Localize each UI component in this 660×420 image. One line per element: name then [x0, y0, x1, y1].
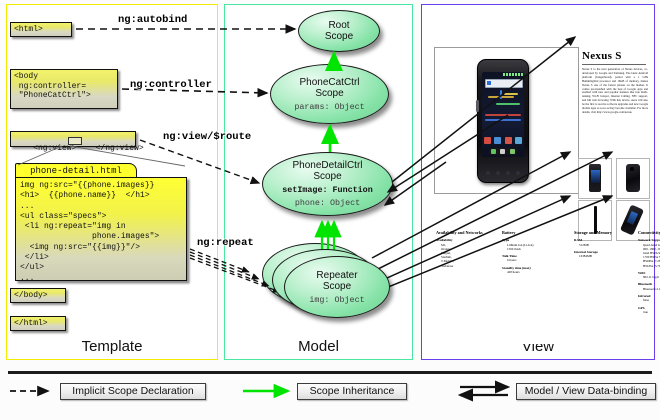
app-icon-2: [494, 137, 501, 144]
phone-button-home: [516, 171, 520, 175]
thumbnail-back[interactable]: [616, 158, 650, 199]
article-title: Nexus S: [582, 50, 622, 62]
scope-phonecatctrl: PhoneCatCtrl Scope params: Object: [270, 64, 389, 124]
article-title-rule: [582, 64, 646, 65]
article-body: Nexus S is the next generation of Nexus …: [582, 68, 648, 142]
spec-val-battery-talk-0: 6 hours: [502, 258, 558, 262]
phone-button-menu: [496, 171, 500, 175]
spec-column-connectivity: Connectivity Network Support Quad-band G…: [638, 230, 660, 314]
scope-phonedetailctrl-prop-phone: phone: Object: [295, 198, 360, 208]
app-icon-4: [515, 137, 522, 144]
spec-column-storage: Storage and Memory RAM 512MB Internal St…: [574, 230, 632, 258]
phone-side-button: [476, 100, 479, 112]
ng-view-text: <ng:view> </ng:view>: [33, 144, 143, 153]
code-html-close-tag: </html>: [10, 316, 66, 331]
spec-val-battery-type-1: 1500 mAh: [502, 247, 558, 251]
phone-soft-buttons: [483, 169, 523, 177]
phone-earpiece: [494, 65, 512, 67]
scope-root: Root Scope: [298, 10, 380, 52]
legend-label-inheritance: Scope Inheritance: [297, 383, 407, 400]
legend-divider: [8, 371, 652, 374]
phone-dock: [489, 148, 517, 155]
phone-statusbar: [503, 73, 523, 76]
thumbnail-front-image: [589, 164, 601, 192]
spec-val-infrared-0: false: [638, 298, 660, 302]
label-ng-view-route: ng:view/$route: [163, 131, 251, 143]
view-rendered-page: Nexus S Nexus S is the next generation o…: [428, 14, 648, 344]
scope-phonedetailctrl-title-line1: PhoneDetailCtrl: [292, 160, 362, 171]
spec-column-availability: Availability and Networks Availability M…: [436, 230, 484, 268]
scope-phonedetailctrl: PhoneDetailCtrl Scope setImage: Function…: [262, 152, 393, 216]
spec-heading-availability: Availability and Networks: [436, 230, 484, 235]
spec-val-network-5: HSUPA (5.76Mbps): [638, 264, 660, 268]
spec-val-storage-internal-0: 16384MB: [574, 254, 632, 258]
callout-code: img ng:src="{{phone.images}} <h1> {{phon…: [15, 177, 187, 281]
spec-column-battery: Battery Type Lithium Ion (Li-Ion) 1500 m…: [502, 230, 558, 274]
thumbnail-back-image: [626, 164, 640, 192]
legend-label-databinding: Model / View Data-binding: [516, 383, 656, 400]
thumbnail-front[interactable]: [578, 158, 612, 199]
spec-val-bluetooth-0: Bluetooth 2.1: [638, 287, 660, 291]
diagram-canvas: Template Model View <html> <body ng:cont…: [0, 0, 660, 420]
dock-icon-browser: [510, 149, 515, 154]
phone-hero-frame: [434, 47, 579, 194]
dock-icon-phone: [491, 149, 496, 154]
scope-repeater-title-line1: Repeater: [316, 270, 357, 281]
spec-table: Availability and Networks Availability M…: [434, 230, 648, 330]
ng-view-slot-icon: [68, 137, 82, 145]
phone-button-back: [486, 171, 490, 175]
scope-root-title-line2: Scope: [325, 31, 353, 42]
app-icon-3: [505, 137, 512, 144]
scope-root-title-line1: Root: [328, 20, 349, 31]
scope-phonecatctrl-title-line2: Scope: [315, 88, 343, 99]
phone-search-widget: [485, 79, 523, 88]
label-ng-repeat: ng:repeat: [197, 237, 254, 249]
dock-icon-apps: [500, 149, 505, 154]
spec-heading-battery: Battery: [502, 230, 558, 235]
google-icon: [487, 81, 491, 85]
spec-val-storage-ram-0: 512MB: [574, 243, 632, 247]
template-callout-phone-detail: phone-detail.html img ng:src="{{phone.im…: [15, 163, 187, 281]
spec-sub-network: Network Support: [638, 238, 660, 242]
code-ng-view-tag: <ng:view> </ng:view>: [10, 131, 136, 147]
scope-repeater-prop-img: img: Object: [309, 295, 364, 305]
scope-repeater: Repeater Scope img: Object: [284, 256, 390, 318]
wallpaper-line-4: [496, 103, 520, 105]
spec-val-battery-standby-0: 428 hours: [502, 270, 558, 274]
column-label-template: Template: [7, 338, 217, 355]
scope-phonedetailctrl-prop-setimage: setImage: Function: [282, 185, 372, 195]
scope-repeater-title-line2: Scope: [323, 281, 351, 292]
wallpaper-line-3: [504, 93, 518, 95]
code-html-open-tag: <html>: [10, 22, 72, 37]
code-body-close-tag: </body>: [10, 288, 66, 303]
wallpaper-line-6: [485, 119, 521, 121]
spec-val-gps-0: true: [638, 310, 660, 314]
spec-heading-connectivity: Connectivity: [638, 230, 660, 235]
spec-heading-storage: Storage and Memory: [574, 230, 632, 235]
phone-hero-image: [477, 59, 529, 183]
scope-phonecatctrl-prop-params: params: Object: [294, 102, 364, 112]
column-label-model: Model: [225, 338, 412, 355]
label-ng-controller: ng:controller: [130, 79, 212, 91]
spec-val-availability-5: Vodafone: [436, 264, 484, 268]
phone-screen: [482, 72, 524, 157]
legend-label-implicit: Implicit Scope Declaration: [60, 383, 206, 400]
spec-val-wifi-0: 802.11 b/g/n: [638, 275, 660, 279]
phone-button-search: [506, 171, 510, 175]
wallpaper-line-5: [485, 114, 521, 116]
phone-app-icons: [484, 137, 522, 144]
app-icon-1: [484, 137, 491, 144]
code-body-open-tag: <body ng:controller= "PhoneCatCtrl">: [10, 69, 118, 109]
wallpaper-line-2: [500, 90, 502, 99]
scope-phonedetailctrl-title-line2: Scope: [313, 171, 341, 182]
label-ng-autobind: ng:autobind: [118, 14, 187, 26]
scope-phonecatctrl-title-line1: PhoneCatCtrl: [299, 77, 359, 88]
